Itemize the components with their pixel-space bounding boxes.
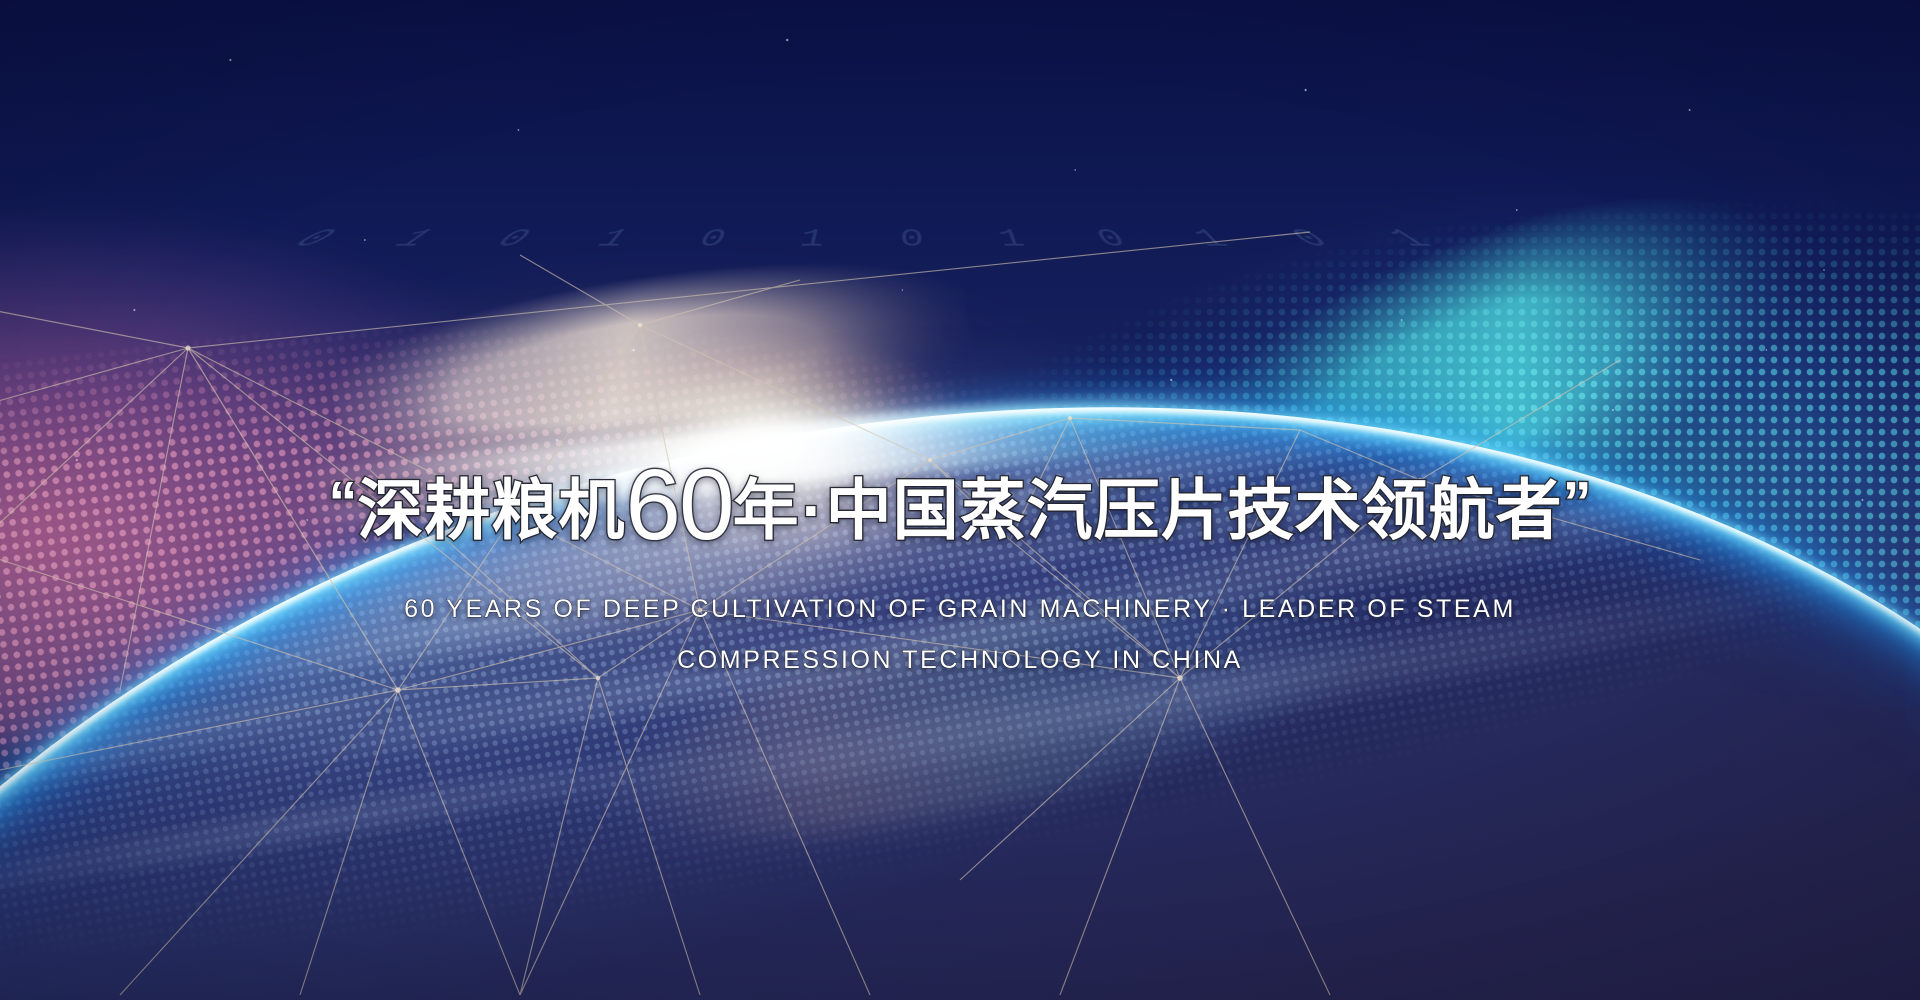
subtitle-line-1: 60 YEARS OF DEEP CULTIVATION OF GRAIN MA… xyxy=(0,595,1920,624)
title-segment-3: 中国蒸汽压片技术领航者 xyxy=(826,473,1563,547)
page-title: “深耕粮机60年·中国蒸汽压片技术领航者” xyxy=(328,455,1591,555)
open-quote: “ xyxy=(328,471,357,536)
title-segment-1: 深耕粮机 xyxy=(357,473,625,547)
title-segment-2: 年 xyxy=(733,473,800,547)
subtitle-line-2: COMPRESSION TECHNOLOGY IN CHINA xyxy=(0,646,1920,675)
banner-text-block: “深耕粮机60年·中国蒸汽压片技术领航者” 60 YEARS OF DEEP C… xyxy=(0,455,1920,675)
close-quote: ” xyxy=(1563,471,1592,536)
title-anniversary-number: 60 xyxy=(625,449,732,561)
hero-banner: 0 1 0 1 0 1 0 1 0 1 0 1 0 1 0 1 xyxy=(0,0,1920,1000)
title-separator: · xyxy=(800,473,826,547)
